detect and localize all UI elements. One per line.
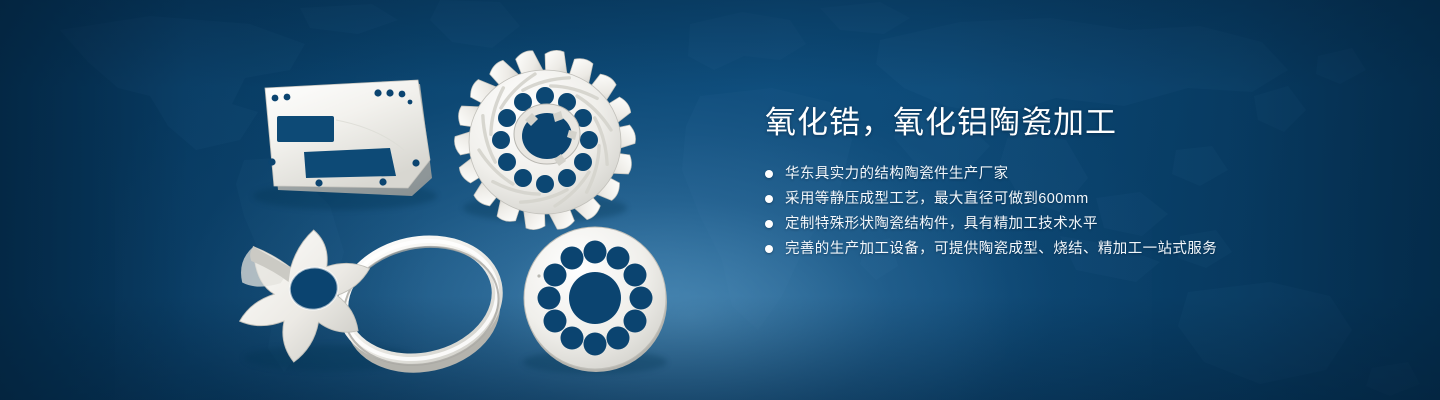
- ceramic-plate-part: [265, 80, 432, 196]
- ceramic-hole-plate-part: [524, 227, 667, 372]
- list-item-label: 采用等静压成型工艺，最大直径可做到600mm: [785, 190, 1089, 208]
- bullet-dot-icon: [765, 220, 773, 228]
- bullet-dot-icon: [765, 195, 773, 203]
- bullet-dot-icon: [765, 245, 773, 253]
- page-title: 氧化锆，氧化铝陶瓷加工: [765, 104, 1385, 143]
- list-item-label: 定制特殊形状陶瓷结构件，具有精加工技术水平: [785, 215, 1098, 233]
- list-item: 完善的生产加工设备，可提供陶瓷成型、烧结、精加工一站式服务: [765, 240, 1385, 258]
- list-item-label: 完善的生产加工设备，可提供陶瓷成型、烧结、精加工一站式服务: [785, 240, 1217, 258]
- bullet-dot-icon: [765, 170, 773, 178]
- ceramic-products-image: [0, 0, 720, 400]
- list-item: 华东具实力的结构陶瓷件生产厂家: [765, 165, 1385, 183]
- banner-copy: 氧化锆，氧化铝陶瓷加工 华东具实力的结构陶瓷件生产厂家 采用等静压成型工艺，最大…: [765, 104, 1385, 265]
- list-item: 定制特殊形状陶瓷结构件，具有精加工技术水平: [765, 215, 1385, 233]
- promo-banner: 氧化锆，氧化铝陶瓷加工 华东具实力的结构陶瓷件生产厂家 采用等静压成型工艺，最大…: [0, 0, 1440, 400]
- list-item: 采用等静压成型工艺，最大直径可做到600mm: [765, 190, 1385, 208]
- feature-list: 华东具实力的结构陶瓷件生产厂家 采用等静压成型工艺，最大直径可做到600mm 定…: [765, 165, 1385, 258]
- list-item-label: 华东具实力的结构陶瓷件生产厂家: [785, 165, 1009, 183]
